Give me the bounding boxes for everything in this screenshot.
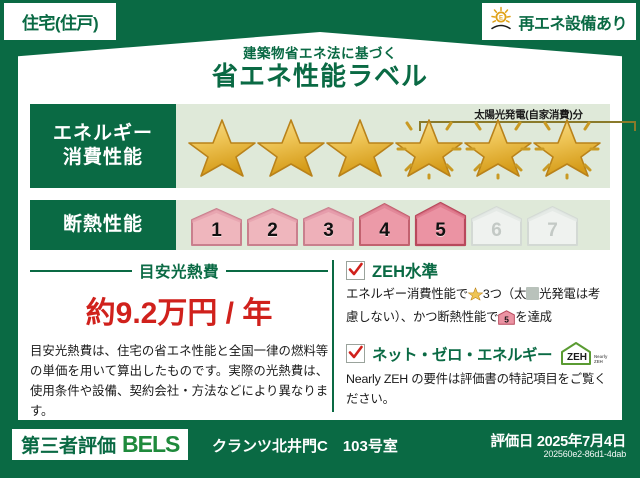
zeh-standard-checkbox[interactable] bbox=[346, 261, 365, 280]
svg-text:E: E bbox=[499, 16, 503, 22]
insulation-level-number: 5 bbox=[435, 220, 446, 247]
check-icon bbox=[348, 345, 363, 360]
insulation-level-3: 3 bbox=[302, 206, 355, 247]
insulation-levels-area: 1 2 3 bbox=[176, 200, 610, 250]
star-icon bbox=[188, 112, 256, 178]
housing-type-label: 住宅(住戸) bbox=[22, 9, 98, 34]
utility-cost-heading-label: 目安光熱費 bbox=[139, 260, 219, 282]
net-zero-checkbox[interactable] bbox=[346, 344, 365, 363]
zeh-standard-body-part1: エネルギー消費性能で bbox=[346, 287, 468, 301]
net-zero-body: Nearly ZEH の要件は評価書の特記項目をご覧ください。 bbox=[346, 370, 610, 410]
renewable-equipment-badge: E 再エネ設備あり bbox=[482, 3, 636, 40]
star-icon-solar bbox=[533, 112, 601, 178]
redacted-character bbox=[526, 287, 539, 300]
star-rating bbox=[176, 112, 601, 180]
heading-rule-right bbox=[226, 270, 328, 272]
insulation-level-2: 2 bbox=[246, 207, 299, 247]
insulation-level-number: 4 bbox=[379, 220, 390, 247]
zeh-logo-sublabel: Nearly ZEH bbox=[594, 355, 607, 366]
utility-cost-note: 目安光熱費は、住宅の省エネ性能と全国一律の燃料等の単価を用いて算出したものです。… bbox=[30, 341, 328, 421]
insulation-level-7: 7 bbox=[526, 205, 579, 247]
insulation-level-number: 6 bbox=[491, 220, 502, 247]
svg-text:ZEH: ZEH bbox=[567, 352, 587, 363]
zeh-standard-body-part4: を達成 bbox=[515, 310, 552, 324]
star-icon-solar bbox=[464, 112, 532, 178]
evaluation-date: 評価日 2025年7月4日 bbox=[490, 430, 626, 451]
sun-energy-icon: E bbox=[488, 6, 514, 37]
evaluation-id: 202560e2-86d1-4dab bbox=[544, 449, 626, 459]
energy-performance-stars-area: 太陽光発電(自家消費)分 bbox=[176, 104, 610, 188]
insulation-level-number: 2 bbox=[267, 220, 278, 247]
insulation-level-scale: 1 2 3 bbox=[176, 201, 579, 250]
insulation-level-number: 1 bbox=[211, 220, 222, 247]
insulation-performance-row: 断熱性能 1 2 bbox=[30, 200, 610, 250]
utility-cost-heading: 目安光熱費 bbox=[30, 260, 328, 282]
star-icon bbox=[326, 112, 394, 178]
bels-logo-jp: 第三者評価 bbox=[21, 431, 116, 458]
utility-cost-block: 目安光熱費 約9.2万円 / 年 目安光熱費は、住宅の省エネ性能と全国一律の燃料… bbox=[30, 258, 328, 414]
lower-section: 目安光熱費 約9.2万円 / 年 目安光熱費は、住宅の省エネ性能と全国一律の燃料… bbox=[30, 258, 610, 414]
insulation-level-number: 7 bbox=[547, 220, 558, 247]
page-title: 省エネ性能ラベル bbox=[0, 56, 640, 93]
zeh-standard-body-part2: 3つ（太 bbox=[483, 287, 526, 301]
zeh-block: ZEH水準 エネルギー消費性能で3つ（太光発電は考慮しない）、かつ断熱性能で5を… bbox=[344, 258, 610, 414]
insulation-level-4: 4 bbox=[358, 202, 411, 247]
star-icon bbox=[257, 112, 325, 178]
energy-label-root: 住宅(住戸) E 再エネ設備あり 建築物省エネ法に基づく bbox=[0, 0, 640, 478]
inline-insulation-chip: 5 bbox=[498, 310, 515, 332]
renewable-equipment-label: 再エネ設備あり bbox=[518, 10, 627, 34]
insulation-level-number: 3 bbox=[323, 220, 334, 247]
insulation-performance-label: 断熱性能 bbox=[30, 200, 176, 250]
utility-cost-value: 約9.2万円 / 年 bbox=[30, 288, 328, 332]
bels-logo-en: BELS bbox=[122, 431, 179, 458]
zeh-standard-title: ZEH水準 bbox=[372, 258, 438, 282]
zeh-standard-heading: ZEH水準 bbox=[346, 258, 610, 282]
energy-performance-row: エネルギー 消費性能 太陽光発電(自家消費)分 bbox=[30, 104, 610, 188]
building-name: クランツ北井門C 103号室 bbox=[212, 435, 398, 456]
check-icon bbox=[348, 262, 363, 277]
section-divider bbox=[332, 260, 334, 412]
bels-logo: 第三者評価 BELS bbox=[12, 429, 188, 460]
insulation-level-5: 5 bbox=[414, 201, 467, 247]
footer-bar: 第三者評価 BELS クランツ北井門C 103号室 評価日 2025年7月4日 … bbox=[0, 420, 640, 478]
inline-star-icon bbox=[468, 286, 483, 308]
star-icon-solar bbox=[395, 112, 463, 178]
energy-performance-label: エネルギー 消費性能 bbox=[30, 104, 176, 188]
zeh-logo-icon: ZEH Nearly ZEH bbox=[559, 341, 607, 367]
net-zero-heading: ネット・ゼロ・エネルギー ZEH Nearly ZEH bbox=[346, 341, 610, 367]
housing-type-badge: 住宅(住戸) bbox=[4, 3, 116, 40]
insulation-level-6: 6 bbox=[470, 205, 523, 247]
svg-text:5: 5 bbox=[504, 314, 509, 324]
heading-rule-left bbox=[30, 270, 132, 272]
net-zero-title: ネット・ゼロ・エネルギー bbox=[372, 343, 552, 365]
insulation-level-1: 1 bbox=[190, 207, 243, 247]
zeh-standard-body: エネルギー消費性能で3つ（太光発電は考慮しない）、かつ断熱性能で5を達成 bbox=[346, 285, 610, 332]
